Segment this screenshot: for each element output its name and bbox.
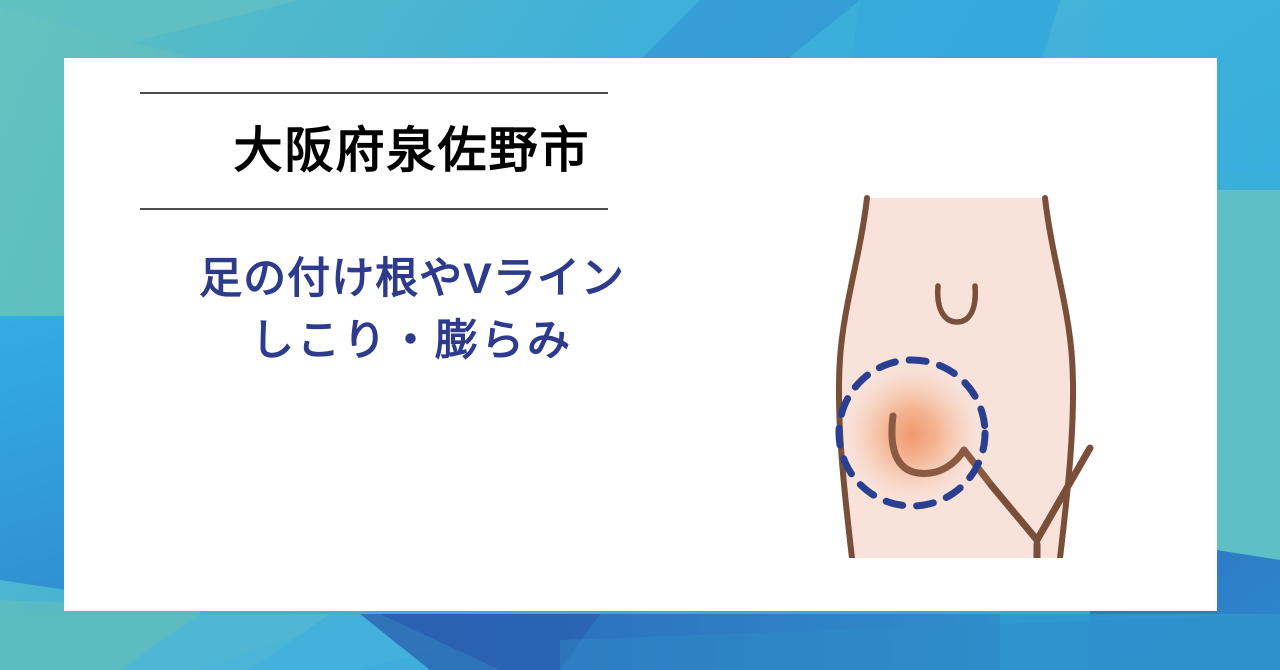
headline-block: 大阪府泉佐野市 足の付け根やVライン しこり・膨らみ <box>140 92 684 373</box>
divider-bottom <box>140 208 608 210</box>
groin-lump-anatomy-illustration <box>760 118 1180 558</box>
content-card: 大阪府泉佐野市 足の付け根やVライン しこり・膨らみ <box>64 58 1217 611</box>
subtitle-block: 足の付け根やVライン しこり・膨らみ <box>140 248 684 373</box>
slide-canvas: 大阪府泉佐野市 足の付け根やVライン しこり・膨らみ <box>0 0 1280 670</box>
subtitle-line-1: 足の付け根やVライン <box>140 248 684 310</box>
subtitle-line-2: しこり・膨らみ <box>140 310 684 372</box>
page-title: 大阪府泉佐野市 <box>140 94 684 208</box>
